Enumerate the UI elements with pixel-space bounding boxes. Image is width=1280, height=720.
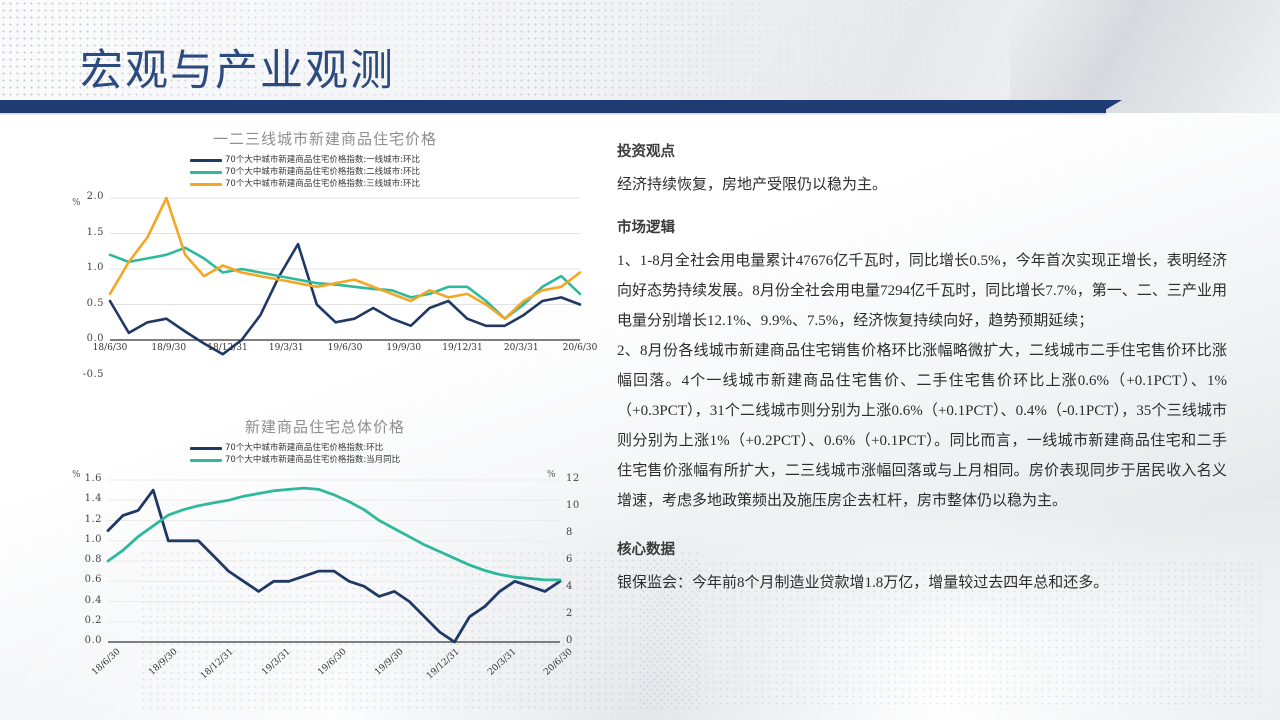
legend-swatch-line3 [190, 183, 222, 186]
chart-top-legend: 70个大中城市新建商品住宅价格指数:一线城市:环比 70个大中城市新建商品住宅价… [60, 154, 590, 190]
chart-bottom-legend: 70个大中城市新建商品住宅价格指数:环比 70个大中城市新建商品住宅价格指数:当… [60, 442, 590, 466]
chart-top-xtick: 19/6/30 [321, 343, 369, 353]
legend-label: 70个大中城市新建商品住宅价格指数:环比 [225, 442, 383, 454]
chart-top-svg [60, 190, 590, 385]
charts-column: 一二三线城市新建商品住宅价格 70个大中城市新建商品住宅价格指数:一线城市:环比… [60, 128, 590, 698]
legend-label: 70个大中城市新建商品住宅价格指数:二线城市:环比 [225, 166, 420, 178]
chart-top-title: 一二三线城市新建商品住宅价格 [60, 128, 590, 149]
chart-top-plot: % 2.01.51.00.50.0-0.5 18/6/3018/9/3018/1… [60, 190, 590, 385]
header-fold-shape [1010, 0, 1280, 113]
legend-swatch-line1 [190, 159, 222, 162]
section-heading: 投资观点 [617, 140, 1227, 161]
section-core-data: 核心数据 银保监会：今年前8个月制造业贷款增1.8万亿，增量较过去四年总和还多。 [617, 538, 1227, 598]
legend-label: 70个大中城市新建商品住宅价格指数:当月同比 [225, 454, 400, 466]
legend-swatch-hb [190, 447, 222, 450]
chart-bottom-title: 新建商品住宅总体价格 [60, 416, 590, 437]
section-heading: 市场逻辑 [617, 216, 1227, 237]
legend-swatch-line2 [190, 171, 222, 174]
section-heading: 核心数据 [617, 538, 1227, 559]
chart-top-xtick: 19/9/30 [380, 343, 428, 353]
legend-label: 70个大中城市新建商品住宅价格指数:三线城市:环比 [225, 178, 420, 190]
section-market-logic: 市场逻辑 1、1-8月全社会用电量累计47676亿千瓦时，同比增长0.5%，今年… [617, 216, 1227, 516]
section-investment-view: 投资观点 经济持续恢复，房地产受限仍以稳为主。 [617, 140, 1227, 200]
page-title: 宏观与产业观测 [80, 36, 395, 98]
legend-item: 70个大中城市新建商品住宅价格指数:二线城市:环比 [190, 166, 590, 178]
chart-top-xtick: 19/3/31 [262, 343, 310, 353]
chart-top-xtick: 19/12/31 [439, 343, 487, 353]
legend-item: 70个大中城市新建商品住宅价格指数:环比 [190, 442, 590, 454]
legend-label: 70个大中城市新建商品住宅价格指数:一线城市:环比 [225, 154, 420, 166]
header-bar-shadow [0, 113, 1106, 116]
section-paragraph-2: 2、8月份各线城市新建商品住宅销售价格环比涨幅略微扩大，二线城市二手住宅售价环比… [617, 336, 1227, 516]
header-accent-bar [0, 100, 1106, 113]
legend-item: 70个大中城市新建商品住宅价格指数:当月同比 [190, 454, 590, 466]
chart-top-xtick: 18/9/30 [145, 343, 193, 353]
chart-top-xtick: 18/6/30 [86, 343, 134, 353]
section-paragraph: 银保监会：今年前8个月制造业贷款增1.8万亿，增量较过去四年总和还多。 [617, 568, 1227, 598]
legend-swatch-tb [190, 459, 222, 462]
chart-top-xtick: 20/3/31 [497, 343, 545, 353]
chart-top-xtick: 18/12/31 [204, 343, 252, 353]
header-accent-bar-tip [1100, 100, 1122, 113]
slide-header: 宏观与产业观测 [0, 0, 1280, 113]
chart-bottom-plot: % % 1.61.41.21.00.80.60.40.20.0 12108642… [60, 466, 590, 691]
chart-top-lines: 一二三线城市新建商品住宅价格 70个大中城市新建商品住宅价格指数:一线城市:环比… [60, 128, 590, 396]
commentary-panel: 投资观点 经济持续恢复，房地产受限仍以稳为主。 市场逻辑 1、1-8月全社会用电… [617, 140, 1227, 620]
section-paragraph-1: 1、1-8月全社会用电量累计47676亿千瓦时，同比增长0.5%，今年首次实现正… [617, 246, 1227, 336]
chart-top-xtick: 20/6/30 [556, 343, 604, 353]
legend-item: 70个大中城市新建商品住宅价格指数:三线城市:环比 [190, 178, 590, 190]
section-paragraph: 经济持续恢复，房地产受限仍以稳为主。 [617, 170, 1227, 200]
legend-item: 70个大中城市新建商品住宅价格指数:一线城市:环比 [190, 154, 590, 166]
chart-bottom-lines: 新建商品住宅总体价格 70个大中城市新建商品住宅价格指数:环比 70个大中城市新… [60, 416, 590, 711]
